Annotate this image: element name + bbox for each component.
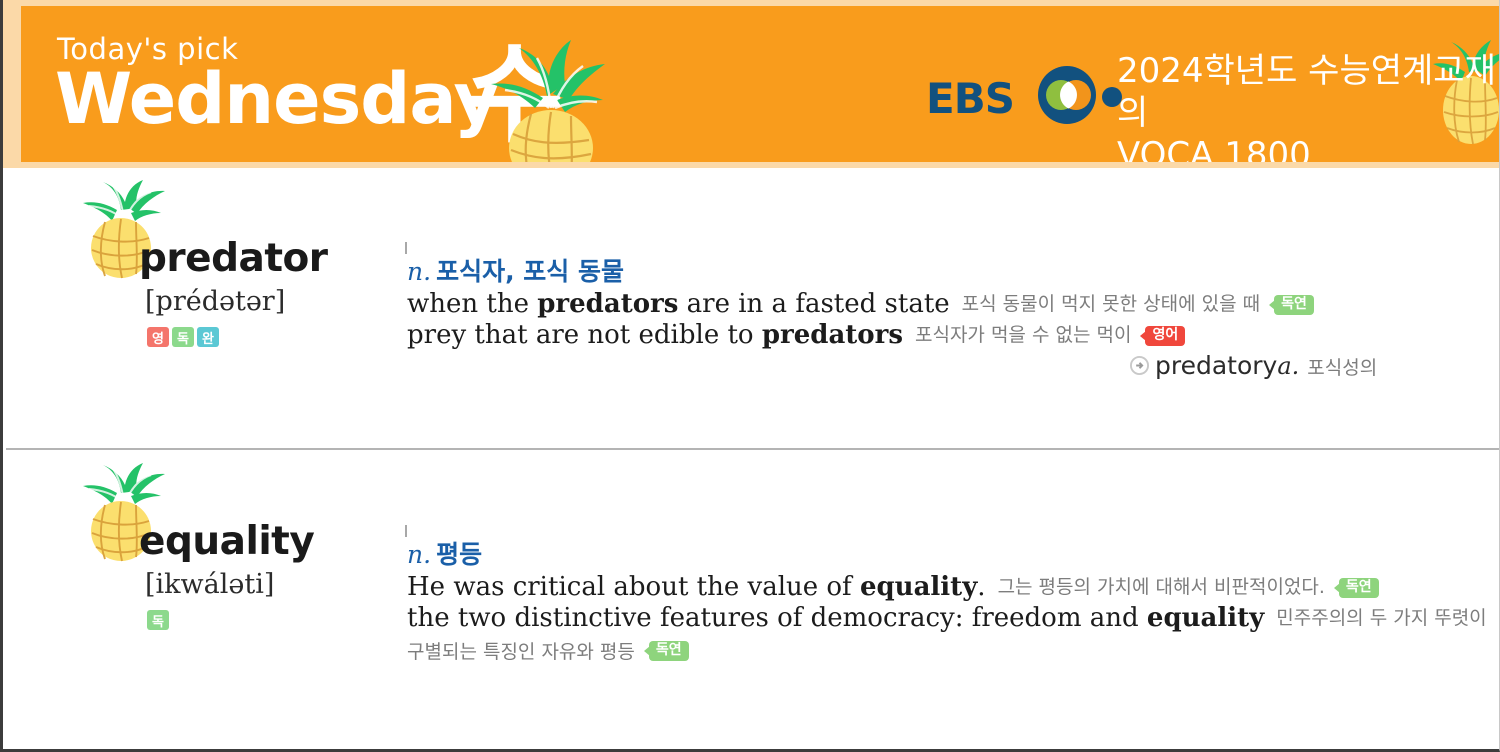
ebs-logo: EBS [926,64,1106,126]
word-entry: predator [prédətər] 영 독 완 n.포식자, 포식 동물 w… [3,168,1500,448]
example-pre: prey that are not edible to [407,320,762,350]
badge-yeong: 영 [147,327,169,347]
badge-wan: 완 [197,327,219,347]
derived-word-text: predatory [1155,351,1277,380]
source-tag: 독연 [1339,578,1379,598]
word-entry: equality [ikwáləti] 독 n.평등 He was critic… [3,451,1500,711]
meaning-korean: 평등 [436,540,482,569]
derived-arrow-icon [1130,356,1149,375]
example-translation: 그는 평등의 가치에 대해서 비판적이었다. [998,576,1325,598]
voca-page: Today's pick Wednesday 수 [0,0,1500,752]
example-pre: He was critical about the value of [407,572,860,602]
badge-dok: 독 [172,327,194,347]
phonetic-transcription: [ikwáləti] [145,569,274,600]
part-of-speech: n. [407,257,431,286]
headword: equality [139,519,314,564]
example-translation: 민주주의의 두 가지 뚜렷이 [1276,607,1486,629]
example-keyword: predators [762,320,903,350]
entry-divider [6,448,1500,450]
headword: predator [139,236,328,281]
meaning-korean: 포식자, 포식 동물 [436,257,624,286]
meaning-line: n.평등 [407,535,482,571]
ebs-title: 2024학년도 수능연계교재의 VOCA 1800 [1117,50,1500,162]
page-header: Today's pick Wednesday 수 [3,0,1500,168]
derived-word: predatorya.포식성의 [1130,351,1377,380]
weekday-title: Wednesday [55,64,498,134]
badge-dok: 독 [147,610,169,630]
example-post: . [977,572,985,602]
derived-pos: a. [1277,352,1299,380]
source-tag: 독연 [1274,295,1314,315]
example-sentence: the two distinctive features of democrac… [407,602,1487,634]
ebs-logo-mark [1038,66,1122,124]
example-post: are in a fasted state [678,289,949,319]
example-sentence: prey that are not edible to predators포식자… [407,319,1185,351]
example-sentence: He was critical about the value of equal… [407,571,1379,603]
part-of-speech: n. [407,540,431,569]
example-translation-wrap: 구별되는 특징인 자유와 평등독연 [407,637,689,664]
example-pre: when the [407,289,537,319]
example-sentence: when the predators are in a fasted state… [407,288,1314,320]
ebs-wordmark: EBS [926,74,1014,123]
source-tag: 영어 [1145,326,1185,346]
derived-translation: 포식성의 [1307,357,1377,379]
example-keyword: predators [537,289,678,319]
example-pre: the two distinctive features of democrac… [407,603,1147,633]
source-tag: 독연 [649,641,689,661]
example-translation: 포식 동물이 먹지 못한 상태에 있을 때 [962,293,1260,315]
example-translation: 포식자가 먹을 수 없는 먹이 [915,324,1131,346]
header-band: Today's pick Wednesday 수 [21,6,1500,162]
source-badges: 영 독 완 [147,327,219,347]
source-badges: 독 [147,610,169,630]
meaning-line: n.포식자, 포식 동물 [407,252,624,288]
phonetic-transcription: [prédətər] [145,286,285,317]
pineapple-icon [473,36,623,162]
example-keyword: equality [1147,603,1264,633]
example-translation-cont: 구별되는 특징인 자유와 평등 [407,641,635,663]
example-keyword: equality [860,572,977,602]
